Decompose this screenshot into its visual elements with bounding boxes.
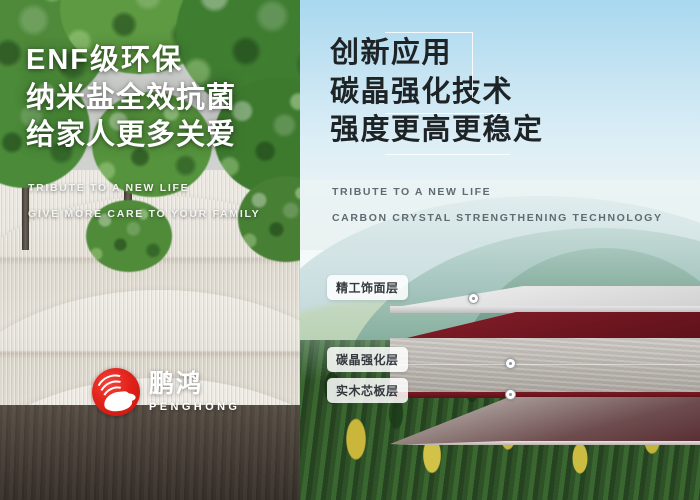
brand-name-chinese: 鹏鸿 xyxy=(149,372,240,397)
left-panel: ENF级环保 纳米盐全效抗菌 给家人更多关爱 TRIBUTE TO A NEW … xyxy=(0,0,300,500)
left-subtitle-line-1: TRIBUTE TO A NEW LIFE xyxy=(28,182,260,194)
brand-name-english: PENGHONG xyxy=(149,402,240,413)
callout-dot-decorative xyxy=(468,293,479,304)
left-subtitle-line-2: GIVE MORE CARE TO YOUR FAMILY xyxy=(28,208,260,220)
callout-core-layer[interactable]: 实木芯板层 xyxy=(327,378,408,403)
decorative-top-plane xyxy=(390,286,700,308)
left-headline-line-3: 给家人更多关爱 xyxy=(26,117,236,155)
callout-label-core: 实木芯板层 xyxy=(327,378,408,403)
bottom-underside xyxy=(390,397,700,444)
left-headline-line-2: 纳米盐全效抗菌 xyxy=(26,80,236,118)
callout-label-decorative: 精工饰面层 xyxy=(327,275,408,300)
right-headline-line-2: 碳晶强化技术 xyxy=(330,73,544,112)
callout-dot-core xyxy=(505,389,516,400)
callout-decorative-surface[interactable]: 精工饰面层 xyxy=(327,275,408,300)
brand-logo[interactable]: 鹏鸿 PENGHONG xyxy=(92,368,240,416)
right-subtitle-line-1: TRIBUTE TO A NEW LIFE xyxy=(332,186,663,198)
board-layer-core xyxy=(390,338,700,396)
callout-dot-carbon xyxy=(505,358,516,369)
core-body xyxy=(390,338,700,396)
right-panel: 创新应用 碳晶强化技术 强度更高更稳定 TRIBUTE TO A NEW LIF… xyxy=(300,0,700,500)
callout-label-carbon: 碳晶强化层 xyxy=(327,347,408,372)
left-headline-group: ENF级环保 纳米盐全效抗菌 给家人更多关爱 xyxy=(26,42,236,155)
dark-timber-decking xyxy=(0,405,300,500)
left-subtitle-group: TRIBUTE TO A NEW LIFE GIVE MORE CARE TO … xyxy=(28,182,260,234)
right-headline-line-1: 创新应用 xyxy=(330,34,544,73)
penghong-emblem-icon xyxy=(92,368,140,416)
brand-logo-text: 鹏鸿 PENGHONG xyxy=(149,372,240,413)
board-layer-bottom xyxy=(390,392,700,444)
callout-carbon-layer[interactable]: 碳晶强化层 xyxy=(327,347,408,372)
right-headline-line-3: 强度更高更稳定 xyxy=(330,111,544,150)
left-headline-line-1: ENF级环保 xyxy=(26,42,236,80)
poster-canvas: ENF级环保 纳米盐全效抗菌 给家人更多关爱 TRIBUTE TO A NEW … xyxy=(0,0,700,500)
right-subtitle-line-2: CARBON CRYSTAL STRENGTHENING TECHNOLOGY xyxy=(332,212,663,224)
right-subtitle-group: TRIBUTE TO A NEW LIFE CARBON CRYSTAL STR… xyxy=(332,186,663,238)
right-headline-group: 创新应用 碳晶强化技术 强度更高更稳定 xyxy=(330,34,544,150)
core-hairline xyxy=(390,364,700,365)
